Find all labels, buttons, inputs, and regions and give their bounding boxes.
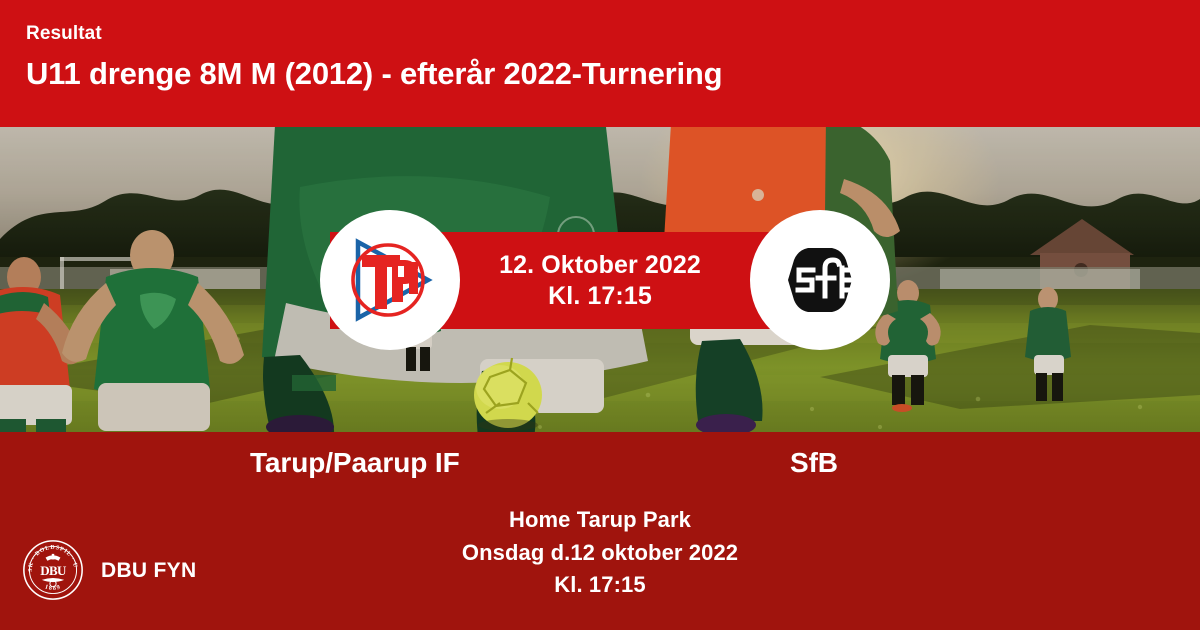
- venue-block: Home Tarup Park Onsdag d.12 oktober 2022…: [300, 504, 900, 602]
- home-team-logo: [320, 210, 460, 350]
- svg-text:1889: 1889: [44, 583, 62, 592]
- away-team-logo: [750, 210, 890, 350]
- page-title: U11 drenge 8M M (2012) - efterår 2022-Tu…: [26, 58, 1200, 91]
- away-team-name: SfB: [790, 449, 838, 477]
- match-date: 12. Oktober 2022: [499, 250, 701, 281]
- match-time: Kl. 17:15: [548, 281, 652, 312]
- dbu-crest-icon: DANSK · BOLDSPIL · UNION 1889 DBU: [22, 539, 84, 601]
- venue-name: Home Tarup Park: [300, 504, 900, 537]
- match-result-card: Resultat U11 drenge 8M M (2012) - efterå…: [0, 0, 1200, 630]
- venue-date: Onsdag d.12 oktober 2022: [300, 537, 900, 570]
- header-kicker: Resultat: [26, 24, 1200, 43]
- tpi-logo-icon: [336, 226, 444, 334]
- team-names-row: Tarup/Paarup IF SfB: [0, 449, 1200, 489]
- dbu-brand-label: DBU FYN: [101, 560, 196, 581]
- svg-text:DBU: DBU: [40, 563, 67, 578]
- sfb-logo-icon: [766, 226, 874, 334]
- venue-time: Kl. 17:15: [300, 569, 900, 602]
- dbu-brand: DANSK · BOLDSPIL · UNION 1889 DBU DBU FY…: [22, 539, 196, 601]
- card-header: Resultat U11 drenge 8M M (2012) - efterå…: [0, 0, 1200, 127]
- home-team-name: Tarup/Paarup IF: [250, 449, 460, 477]
